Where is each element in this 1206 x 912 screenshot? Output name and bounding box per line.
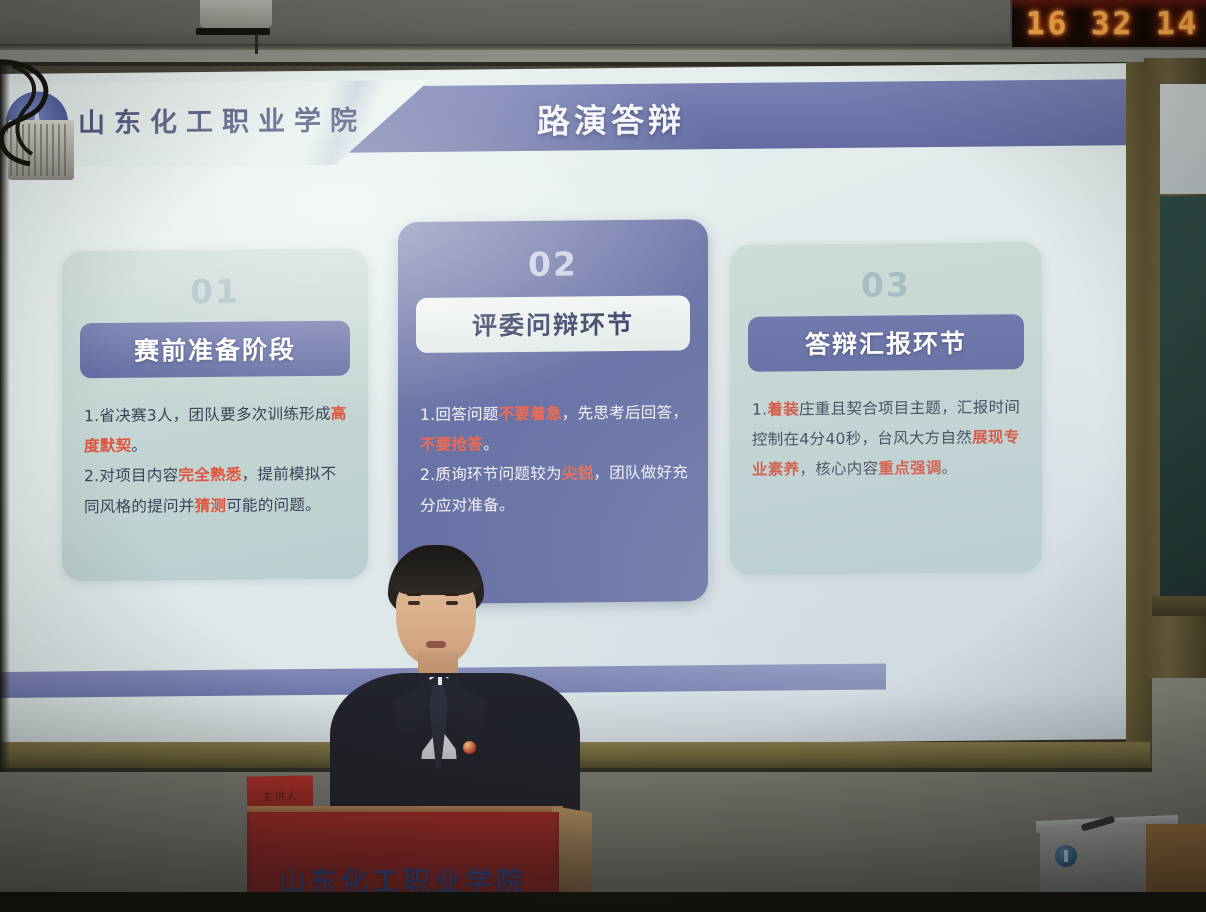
presenter-brow-left: [407, 593, 421, 596]
classroom-scene: 16 32 14 山东化工职业学院 路演答辩 01 赛前准备阶段 1.省决赛3人…: [0, 0, 1206, 912]
card-body: 1.着装庄重且契合项目主题，汇报时间控制在4分40秒，台风大方自然展现专业素养，…: [752, 392, 1024, 485]
card1-l2-suffix: 可能的问题。: [226, 496, 321, 515]
card2-l2-highlight: 尖锐: [562, 465, 594, 483]
card1-l2-highlight: 完全熟悉: [178, 466, 241, 485]
card2-l1-prefix: 1.回答问题: [420, 405, 499, 424]
led-clock: 16 32 14: [1010, 0, 1206, 47]
card2-l1-mid: ，先思考后回答，: [562, 403, 688, 422]
card1-l2-highlight2: 猜测: [195, 496, 227, 514]
card-label: 答辩汇报环节: [748, 314, 1024, 372]
card1-l1-suffix: 。: [131, 437, 147, 455]
chalkboard-surface: [1160, 196, 1206, 596]
card3-l1-mid2: ，核心内容: [799, 460, 878, 479]
ceiling-wire: [255, 34, 258, 54]
card-body: 1.回答问题不要着急，先思考后回答，不要抢答。 2.质询环节问题较为尖锐，团队做…: [420, 397, 690, 520]
card-03: 03 答辩汇报环节 1.着装庄重且契合项目主题，汇报时间控制在4分40秒，台风大…: [730, 242, 1042, 575]
card-01: 01 赛前准备阶段 1.省决赛3人，团队要多次训练形成高度默契。 2.对项目内容…: [62, 248, 368, 581]
card2-l1-highlight2: 不要抢答: [420, 436, 483, 455]
presenter-fringe: [390, 561, 482, 595]
card-label: 评委问辩环节: [416, 295, 690, 353]
clock-time: 16 32 14: [1026, 6, 1199, 42]
card-body: 1.省决赛3人，团队要多次训练形成高度默契。 2.对项目内容完全熟悉，提前模拟不…: [84, 399, 350, 522]
presenter-brow-right: [445, 593, 459, 596]
card1-l2-prefix: 2.对项目内容: [84, 467, 178, 486]
card2-l1-suffix: 。: [483, 435, 499, 453]
presenter-mouth: [426, 641, 446, 648]
bottom-edge: [0, 892, 1206, 912]
card3-l1-highlight: 着装: [767, 400, 799, 418]
floor-shadow: [0, 690, 1206, 912]
card2-l1-highlight: 不要着急: [499, 405, 562, 424]
card-number: 03: [730, 264, 1042, 306]
card2-l2-prefix: 2.质询环节问题较为: [420, 465, 562, 484]
presenter-eye-left: [408, 601, 420, 605]
chalkboard-ledge: [1152, 596, 1206, 616]
card-number: 02: [398, 243, 708, 285]
card3-l1-highlight3: 重点强调: [878, 459, 941, 478]
card-label: 赛前准备阶段: [80, 321, 350, 379]
presenter-eye-right: [446, 601, 458, 605]
card3-l1-prefix: 1.: [752, 401, 767, 419]
card-number: 01: [62, 270, 368, 312]
wall-panel-upper-right: [1160, 84, 1206, 194]
ceiling-mount: [200, 0, 272, 28]
card1-l1-prefix: 1.省决赛3人，团队要多次训练形成: [84, 405, 331, 425]
projector-cables-icon: [0, 58, 96, 166]
ceiling-rail: [196, 28, 270, 35]
card3-l1-suffix: 。: [942, 459, 958, 477]
